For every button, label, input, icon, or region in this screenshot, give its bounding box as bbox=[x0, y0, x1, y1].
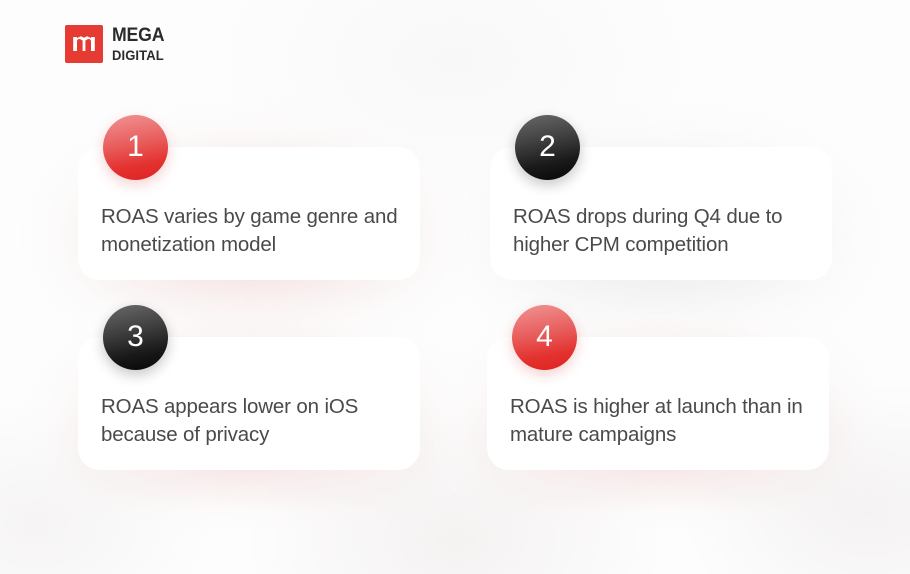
card-number-label: 2 bbox=[539, 132, 556, 162]
card-number-badge-2: 2 bbox=[515, 115, 580, 180]
insight-card-3: 3 ROAS appears lower on iOS because of p… bbox=[78, 337, 420, 470]
card-number-label: 3 bbox=[127, 322, 144, 352]
card-number-label: 1 bbox=[127, 132, 144, 162]
insight-card-grid: 1 ROAS varies by game genre and monetiza… bbox=[0, 0, 910, 574]
card-body-text: ROAS varies by game genre and monetizati… bbox=[101, 203, 406, 259]
insight-card-2: 2 ROAS drops during Q4 due to higher CPM… bbox=[490, 147, 832, 280]
card-body-text: ROAS drops during Q4 due to higher CPM c… bbox=[513, 203, 818, 259]
card-number-badge-4: 4 bbox=[512, 305, 577, 370]
card-number-badge-1: 1 bbox=[103, 115, 168, 180]
insight-card-1: 1 ROAS varies by game genre and monetiza… bbox=[78, 147, 420, 280]
card-number-label: 4 bbox=[536, 322, 553, 352]
card-number-badge-3: 3 bbox=[103, 305, 168, 370]
insight-card-4: 4 ROAS is higher at launch than in matur… bbox=[487, 337, 829, 470]
card-body-text: ROAS is higher at launch than in mature … bbox=[510, 393, 815, 449]
card-body-text: ROAS appears lower on iOS because of pri… bbox=[101, 393, 406, 449]
